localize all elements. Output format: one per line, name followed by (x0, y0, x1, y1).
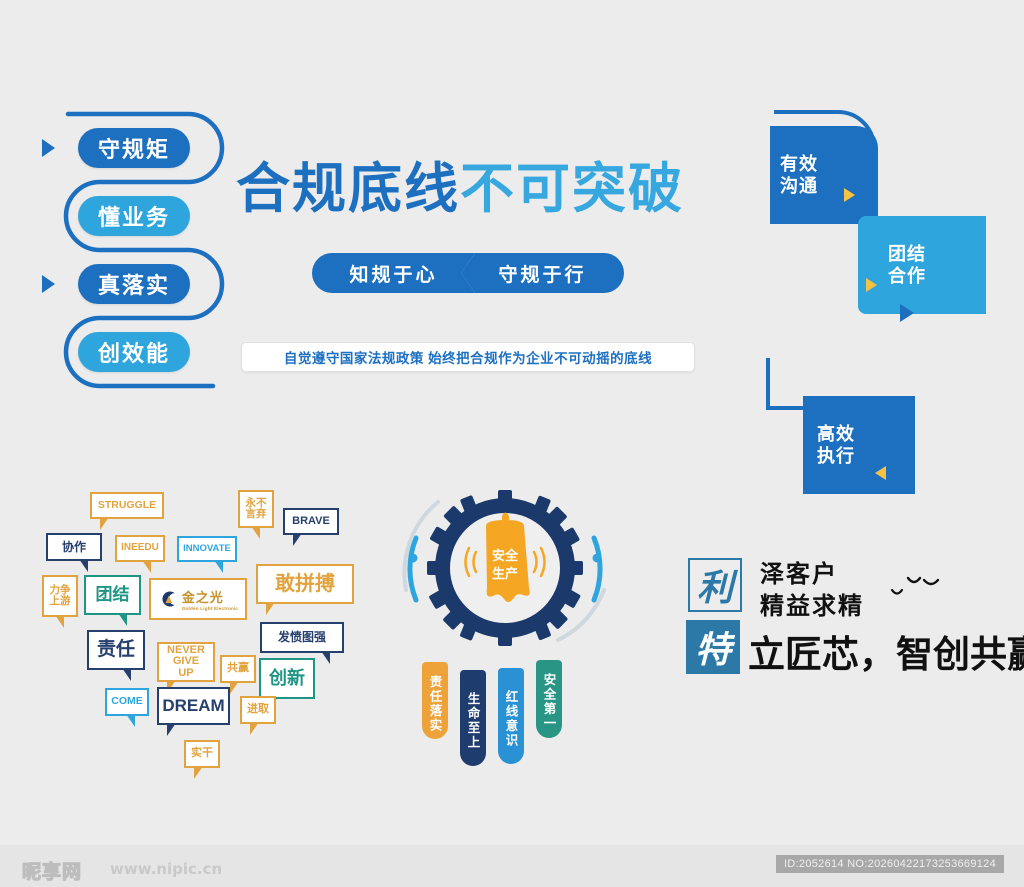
pill-arrow-0 (42, 139, 55, 157)
gear-bell-graphic: 安全 生产 (398, 480, 613, 660)
bell-label-line1: 安全 (492, 548, 519, 563)
word-bubble-label-16: 进取 (244, 704, 272, 716)
word-bubble-17[interactable]: 实干 (184, 740, 220, 768)
pill-item-0[interactable]: 守规矩 (78, 128, 190, 168)
safety-strip-0[interactable]: 责任落实 (422, 662, 448, 739)
flow-block-0[interactable]: 有效 沟通 (770, 126, 878, 224)
company-logo-bubble: 金之光 Golden Light Electronic (149, 578, 247, 620)
word-bubble-9[interactable]: 发愤图强 (260, 622, 344, 653)
word-bubble-label-5: INNOVATE (180, 544, 234, 554)
flow-block-0-line2: 沟通 (780, 175, 818, 197)
slogan-pair: 知规于心 守规于行 (312, 253, 624, 293)
word-bubble-label-6: 力争上游 (47, 585, 74, 607)
pill-label-0: 守规矩 (98, 132, 170, 164)
seal-te: 特 (686, 620, 740, 674)
flow-arrow-mid-icon (900, 304, 914, 322)
watermark-site-url: www.nipic.cn (110, 860, 222, 878)
logo-text-en: Golden Light Electronic (182, 606, 238, 611)
flow-block-2[interactable]: 高效 执行 (803, 396, 915, 494)
word-bubble-label-2: INEEDU (118, 543, 162, 554)
pill-label-2: 真落实 (98, 268, 170, 300)
word-bubble-label-0: STRUGGLE (95, 500, 159, 511)
word-bubble-tail-1 (79, 559, 88, 572)
word-bubble-label-8: 敢拼搏 (272, 574, 338, 595)
poster-canvas: 守规矩 懂业务 真落实 创效能 合规底线不可突破 知规于心 守规于行 自觉遵守国… (0, 0, 1024, 887)
flow-arrow-2-icon (875, 466, 886, 480)
word-bubble-label-9: 发愤图强 (275, 631, 329, 644)
pill-item-3[interactable]: 创效能 (78, 332, 190, 372)
word-bubble-12[interactable]: 共赢 (220, 655, 256, 683)
word-bubble-16[interactable]: 进取 (240, 696, 276, 724)
slogan-right[interactable]: 守规于行 (461, 253, 624, 293)
pill-arrow-2 (42, 275, 55, 293)
safety-strip-2[interactable]: 红线意识 (498, 668, 524, 764)
safety-strip-label-3: 安全第一 (540, 673, 559, 731)
word-bubble-tail-17 (194, 766, 203, 779)
flow-block-1-line2: 合作 (888, 265, 926, 287)
flow-block-1-line1: 团结 (888, 243, 926, 265)
word-cloud-heart: 金之光 Golden Light Electronic STRUGGLE协作IN… (42, 490, 387, 780)
word-bubble-11[interactable]: NEVERGIVEUP (157, 642, 215, 682)
word-bubble-10[interactable]: 责任 (87, 630, 145, 670)
word-bubble-0[interactable]: STRUGGLE (90, 492, 164, 519)
right-slogan-line1: 泽客户 (760, 554, 838, 589)
word-bubble-tail-2 (142, 560, 151, 573)
word-bubble-label-17: 实干 (188, 748, 216, 760)
birds-icon (888, 570, 948, 610)
flow-block-0-line1: 有效 (780, 153, 818, 175)
word-bubble-tail-6 (55, 615, 64, 628)
right-slogan-block: 利 泽客户 精益求精 特 立匠芯，智创共赢 (688, 558, 1008, 683)
word-bubble-7[interactable]: 团结 (84, 575, 141, 615)
logo-text-cn: 金之光 (182, 587, 238, 606)
word-bubble-15[interactable]: DREAM (157, 687, 230, 725)
word-bubble-1[interactable]: 协作 (46, 533, 102, 561)
word-bubble-2[interactable]: INEEDU (115, 535, 165, 562)
word-bubble-tail-8 (266, 602, 275, 615)
seal-li: 利 (688, 558, 742, 612)
safety-strip-label-2: 红线意识 (502, 690, 521, 748)
word-bubble-label-10: 责任 (94, 640, 138, 660)
right-flow-diagram: 有效 沟通 团结 合作 高效 执行 (758, 108, 988, 413)
flow-block-2-line2: 执行 (817, 445, 855, 467)
pill-label-1: 懂业务 (98, 200, 170, 232)
word-bubble-tail-5 (214, 560, 223, 573)
word-bubble-14[interactable]: COME (105, 688, 149, 716)
word-bubble-label-1: 协作 (59, 541, 89, 554)
page-title-part-light: 不可突破 (460, 159, 684, 219)
word-bubble-label-3: 永不言弃 (243, 498, 270, 520)
word-bubble-tail-14 (126, 714, 135, 727)
bell-label-line2: 生产 (492, 566, 518, 581)
right-slogan-line3: 立匠芯，智创共赢 (748, 624, 1024, 678)
flow-block-2-line1: 高效 (817, 423, 855, 445)
safety-strip-3[interactable]: 安全第一 (536, 660, 562, 738)
safety-strip-label-0: 责任落实 (426, 675, 445, 733)
word-bubble-13[interactable]: 创新 (259, 658, 315, 699)
word-bubble-3[interactable]: 永不言弃 (238, 490, 274, 528)
word-bubble-label-14: COME (108, 696, 146, 707)
pill-item-2[interactable]: 真落实 (78, 264, 190, 304)
word-bubble-tail-12 (230, 681, 239, 694)
safety-strip-label-1: 生命至上 (464, 692, 483, 750)
word-bubble-4[interactable]: BRAVE (283, 508, 339, 535)
word-bubble-tail-7 (118, 613, 127, 626)
word-bubble-6[interactable]: 力争上游 (42, 575, 78, 617)
watermark-site-logo: 昵享网 (22, 857, 82, 884)
word-bubble-label-7: 团结 (93, 586, 133, 604)
safety-strip-1[interactable]: 生命至上 (460, 670, 486, 766)
slogan-left[interactable]: 知规于心 (312, 253, 475, 293)
word-bubble-tail-16 (250, 722, 259, 735)
word-bubble-tail-4 (293, 533, 302, 546)
safety-production-emblem: 安全 生产 责任落实生命至上红线意识安全第一 (398, 480, 613, 780)
flow-arrow-0-icon (844, 188, 855, 202)
pill-item-1[interactable]: 懂业务 (78, 196, 190, 236)
word-bubble-label-12: 共赢 (224, 663, 252, 675)
pill-label-3: 创效能 (98, 336, 170, 368)
word-bubble-tail-3 (251, 526, 260, 539)
page-title: 合规底线不可突破 (236, 158, 716, 220)
word-bubble-8[interactable]: 敢拼搏 (256, 564, 354, 604)
word-bubble-label-15: DREAM (159, 697, 227, 715)
flow-arrow-1-icon (866, 278, 877, 292)
flow-block-1[interactable]: 团结 合作 (858, 216, 986, 314)
banner-note: 自觉遵守国家法规政策 始终把合规作为企业不可动摇的底线 (241, 342, 695, 372)
word-bubble-tail-0 (100, 517, 109, 530)
left-pill-flow: 守规矩 懂业务 真落实 创效能 (38, 110, 243, 410)
word-bubble-5[interactable]: INNOVATE (177, 536, 237, 562)
word-bubble-label-13: 创新 (266, 669, 308, 688)
right-slogan-line2: 精益求精 (760, 586, 864, 621)
golden-light-logo-icon (158, 589, 178, 609)
watermark-id-badge: ID:2052614 NO:20260422173253669124 (776, 855, 1004, 873)
page-title-part-dark: 合规底线 (236, 159, 460, 219)
word-bubble-label-4: BRAVE (289, 516, 333, 528)
word-bubble-tail-9 (321, 651, 330, 664)
word-bubble-tail-15 (167, 723, 176, 736)
word-bubble-tail-10 (122, 668, 131, 681)
word-bubble-label-11: NEVERGIVEUP (164, 645, 208, 680)
